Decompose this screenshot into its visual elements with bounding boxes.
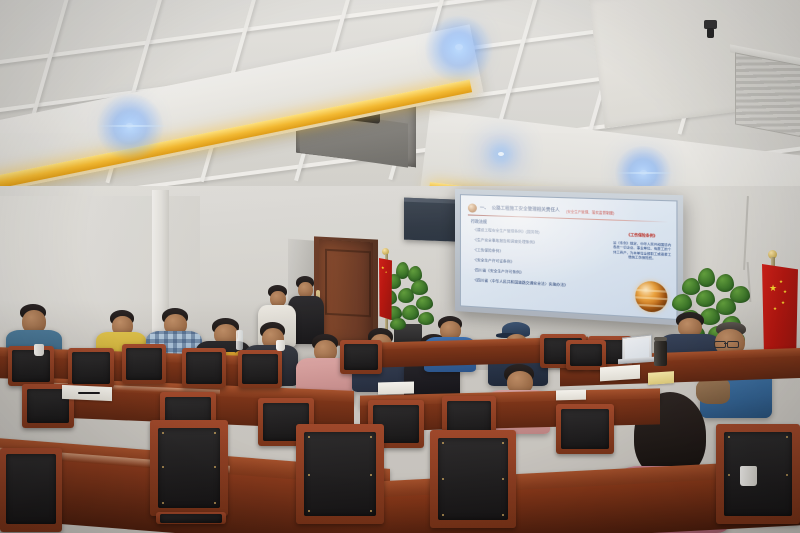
slide-title-text: 公路工程施工安全管理相关责任人: [492, 205, 560, 213]
slide-bullet: ·《建设工程安全生产管理条例》(国务院): [474, 229, 598, 238]
slide-bullet: ·《生产安全事故报告和调查处理条例》: [474, 239, 598, 248]
notebook: [648, 371, 674, 385]
chair[interactable]: [716, 424, 800, 533]
downlight: [455, 44, 463, 50]
glasses-icon: [714, 341, 738, 346]
water-bottle: [236, 330, 243, 350]
slide-side-body: 是《条例》规定，中华人民共和国境内各类一切企业、事业单位、有雇工的个体工商户，为…: [612, 240, 672, 262]
security-camera-icon: [704, 20, 717, 29]
slide-section-label: 行政法规: [471, 219, 487, 226]
chair[interactable]: [0, 448, 62, 533]
chair[interactable]: [150, 420, 228, 533]
paper-sheet: [556, 390, 586, 401]
downlight: [498, 152, 504, 156]
projection-screen: 一、 公路工程施工安全管理相关责任人 (安全生产管理、落实监督制度) 行政法规 …: [460, 194, 678, 320]
cup: [740, 466, 757, 486]
pen: [78, 392, 100, 394]
door-panel: [325, 249, 371, 317]
slide-bullet: ·《工伤保险条例》: [474, 249, 598, 259]
light-beam: [616, 172, 674, 174]
chair[interactable]: [238, 350, 282, 388]
chair[interactable]: [122, 344, 166, 384]
slide-bullet-list: ·《建设工程安全生产管理条例》(国务院) ·《生产安全事故报告和调查处理条例》 …: [474, 229, 598, 297]
chair[interactable]: [8, 346, 54, 386]
projection-screen-frame: 一、 公路工程施工安全管理相关责任人 (安全生产管理、落实监督制度) 行政法规 …: [455, 189, 683, 326]
chair[interactable]: [556, 404, 614, 454]
slide-title-note: (安全生产管理、落实监督制度): [566, 208, 614, 215]
chair[interactable]: [296, 424, 384, 533]
chair[interactable]: [182, 348, 226, 388]
meeting-room-photo: 一、 公路工程施工安全管理相关责任人 (安全生产管理、落实监督制度) 行政法规 …: [0, 0, 800, 533]
paper-sheet: [378, 382, 414, 395]
paper-stack: [600, 365, 640, 382]
slide-title-number: 一、: [480, 205, 489, 211]
slide-side-note: 《工伤保险条例》 是《条例》规定，中华人民共和国境内各类一切企业、事业单位、有雇…: [612, 232, 672, 262]
globe-graphic: [635, 280, 667, 313]
cup: [34, 344, 44, 356]
cup: [276, 340, 285, 351]
chair[interactable]: [430, 430, 516, 533]
slide-bullet: ·《四川省〈中华人民共和国道路交通安全法〉实施办法》: [474, 280, 598, 291]
slide-bullet: ·《安全生产许可证条例》: [474, 259, 598, 269]
slide-side-heading: 《工伤保险条例》: [612, 232, 672, 240]
slide-bullet-icon: [468, 203, 477, 212]
thermos: [654, 340, 667, 366]
chair[interactable]: [566, 340, 606, 370]
thermos-lid: [654, 337, 667, 341]
chair[interactable]: [68, 348, 114, 388]
hvac-vent: [735, 52, 800, 137]
light-beam: [96, 125, 168, 127]
chair[interactable]: [340, 340, 382, 374]
